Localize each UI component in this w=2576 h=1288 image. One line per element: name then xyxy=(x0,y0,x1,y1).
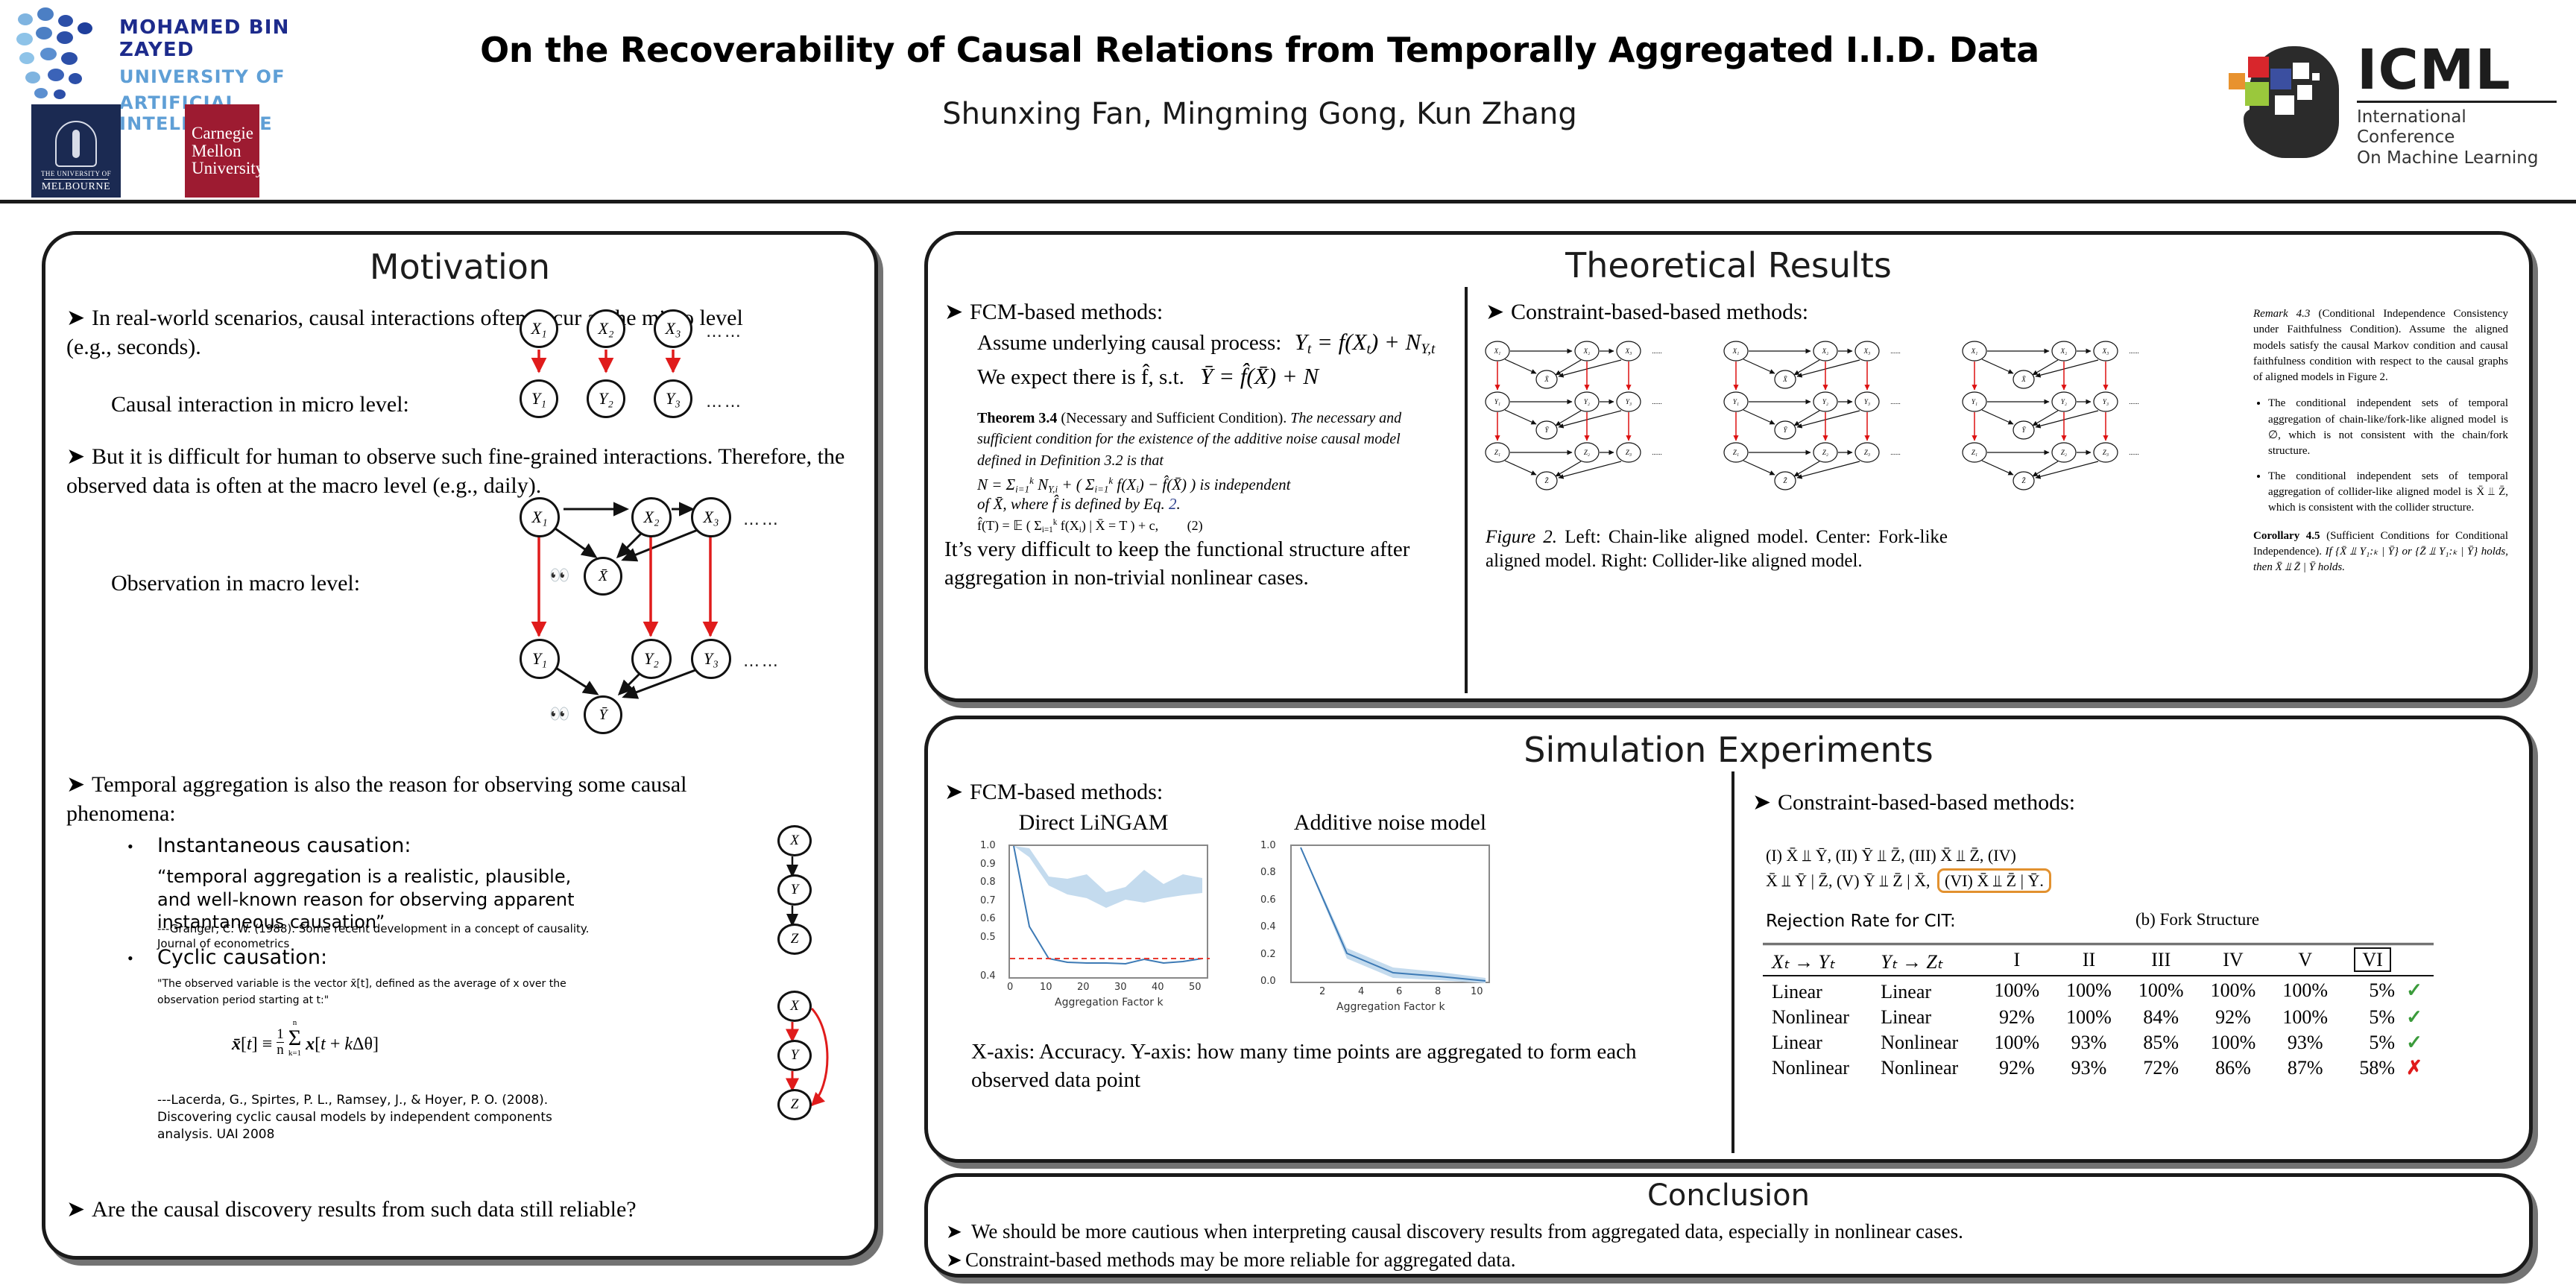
table-header-6: V xyxy=(2269,944,2341,976)
conclusion-bullet-2-text: Constraint-based methods may be more rel… xyxy=(965,1248,1515,1271)
row3-col1: Nonlinear xyxy=(1872,1055,1980,1081)
row0-col6: 100% xyxy=(2269,976,2341,1005)
sim-fcm-heading-text: FCM-based methods: xyxy=(970,780,1163,804)
node-x3-macro: X₃ xyxy=(691,497,731,537)
table-header-3: II xyxy=(2053,944,2125,976)
table-label: Rejection Rate for CIT: xyxy=(1766,912,1956,931)
svg-text:X₂: X₂ xyxy=(1583,347,1591,355)
motivation-caption-micro: Causal interaction in micro level: xyxy=(111,390,409,419)
row1-col5: 92% xyxy=(2197,1005,2270,1030)
motivation-bullet-4: ➤Are the causal discovery results from s… xyxy=(66,1195,842,1224)
expect-label: We expect there is f̂, s.t. xyxy=(977,365,1184,389)
row2-col1: Nonlinear xyxy=(1872,1030,1980,1055)
row3-col0: Nonlinear xyxy=(1763,1055,1872,1081)
theorem-head: (Necessary and Sufficient Condition). xyxy=(1061,410,1287,426)
cit-highlight-vi: (VI) X̄ ⫫ Z̄ | Ȳ. xyxy=(1937,868,2051,893)
assume-line: Assume underlying causal process: Yt = f… xyxy=(977,329,1435,358)
node-y-cyclic: Y xyxy=(777,1040,812,1071)
svg-text:X₁: X₁ xyxy=(1494,347,1501,355)
row3-col7: 58% xyxy=(2341,1055,2404,1081)
svg-text:Z₂: Z₂ xyxy=(1584,449,1590,456)
chart-left-xlabel: Aggregation Factor k xyxy=(1055,997,1164,1008)
table-header-mark xyxy=(2404,944,2434,976)
check-icon: ✓ xyxy=(2404,976,2434,1005)
row2-col7: 5% xyxy=(2341,1030,2404,1055)
motivation-title: Motivation xyxy=(45,247,874,287)
row1-col0: Nonlinear xyxy=(1763,1005,1872,1030)
node-y3: Y₃ xyxy=(654,379,692,418)
remark-paragraph: Remark 4.3 (Conditional Independence Con… xyxy=(2253,306,2508,385)
cross-icon: ✗ xyxy=(2404,1055,2434,1081)
aligned-models-svg: X₁ X₂ X₃ X̄ Y₁ Y₂ Y₃ xyxy=(1483,333,2228,520)
poster-authors: Shunxing Fan, Mingming Gong, Kun Zhang xyxy=(373,97,2147,131)
table-header-0: Xₜ → Yₜ xyxy=(1763,944,1872,976)
node-x-cyclic: X xyxy=(777,991,812,1022)
motivation-bullet-3: ➤Temporal aggregation is also the reason… xyxy=(66,770,797,828)
row2-col3: 93% xyxy=(2053,1030,2125,1055)
icml-head-icon xyxy=(2229,40,2352,163)
axis-note: X-axis: Accuracy. Y-axis: how many time … xyxy=(971,1038,1702,1094)
chart-left-title: Direct LiNGAM xyxy=(974,810,1213,836)
check-icon: ✓ xyxy=(2404,1005,2434,1030)
table-header-1: Yₜ → Zₜ xyxy=(1872,944,1980,976)
cit-line-2-text: X̄ ⫫ Ȳ | Z̄, (V) Ȳ ⫫ Z̄ | X̄, xyxy=(1766,871,1931,890)
node-x3: X₃ xyxy=(654,309,692,348)
table-row: Nonlinear Nonlinear 92% 93% 72% 86% 87% … xyxy=(1763,1055,2434,1081)
chart-right-plotbox xyxy=(1290,845,1490,983)
check-icon: ✓ xyxy=(2404,1030,2434,1055)
mbzuai-line-1: MOHAMED BIN ZAYED xyxy=(119,16,358,61)
arrow-bullet-icon: ➤ xyxy=(1486,297,1511,326)
equation-2: f̂(T) = 𝔼 ( Σi=1k f(Xi) | X̄ = T ) + c, … xyxy=(977,518,1424,534)
remark-bullet-1: The conditional independent sets of temp… xyxy=(2268,396,2508,459)
theory-cb-heading: ➤Constraint-based-based methods: xyxy=(1486,297,1808,326)
dot-bullet-icon: • xyxy=(127,949,133,968)
arrow-bullet-icon: ➤ xyxy=(66,442,92,471)
mbzuai-dots-icon xyxy=(15,6,112,103)
header-divider xyxy=(0,200,2576,203)
poster-header: MOHAMED BIN ZAYED UNIVERSITY OF ARTIFICI… xyxy=(0,0,2576,203)
row3-col2: 92% xyxy=(1980,1055,2053,1081)
row2-col4: 85% xyxy=(2125,1030,2197,1055)
node-y-chain: Y xyxy=(777,874,812,906)
row2-col2: 100% xyxy=(1980,1030,2053,1055)
conclusion-bullet-1: ➤We should be more cautious when interpr… xyxy=(946,1220,1963,1243)
table-subcaption: (b) Fork Structure xyxy=(2135,910,2259,929)
cyclic-causation-label: Cyclic causation: xyxy=(157,946,327,969)
expect-equation: Ȳ = f̂(X̄) + N xyxy=(1200,363,1319,389)
row3-col3: 93% xyxy=(2053,1055,2125,1081)
svg-text:......: ...... xyxy=(1652,398,1662,405)
corollary-label: Corollary 4.5 xyxy=(2253,530,2320,542)
remark-label: Remark 4.3 xyxy=(2253,308,2310,320)
dot-bullet-icon: • xyxy=(127,837,133,856)
theorem-equation: N = Σi=1k NY,i + ( Σi=1k f(Xi) − f̂(X̄) … xyxy=(977,475,1424,495)
row0-col3: 100% xyxy=(2053,976,2125,1005)
chart-additive-noise: Additive noise model 1.0 0.8 0.6 0.4 0.2… xyxy=(1241,810,1539,836)
table-row: Linear Linear 100% 100% 100% 100% 100% 5… xyxy=(1763,976,2434,1005)
arrow-bullet-icon: ➤ xyxy=(946,1249,965,1272)
cmu-line-3: University xyxy=(192,160,259,177)
motivation-caption-macro: Observation in macro level: xyxy=(111,569,360,598)
mbzuai-line-2: UNIVERSITY OF xyxy=(119,66,358,87)
figure2-caption: Figure 2. Left: Chain-like aligned model… xyxy=(1486,525,1948,573)
node-x2-macro: X₂ xyxy=(631,497,672,537)
cit-line-1: (I) X̄ ⫫ Ȳ, (II) Ȳ ⫫ Z̄, (III) X̄ ⫫ Z̄… xyxy=(1766,843,2051,868)
arrow-bullet-icon: ➤ xyxy=(66,770,92,799)
macro-top-ellipsis: …… xyxy=(743,511,780,529)
chart-left-svg xyxy=(1010,846,1210,980)
row0-col2: 100% xyxy=(1980,976,2053,1005)
melbourne-line-1: THE UNIVERSITY OF xyxy=(41,170,111,177)
row1-col2: 92% xyxy=(1980,1005,2053,1030)
sim-fcm-heading: ➤FCM-based methods: xyxy=(944,777,1163,806)
sim-cb-heading: ➤Constraint-based-based methods: xyxy=(1752,788,2075,817)
theory-divider xyxy=(1465,287,1468,693)
icml-logo: ICML International Conference On Machine… xyxy=(2184,33,2564,167)
node-x-chain: X xyxy=(777,825,812,856)
row0-col7: 5% xyxy=(2341,976,2404,1005)
assume-label: Assume underlying causal process: xyxy=(977,331,1281,355)
arrow-bullet-icon: ➤ xyxy=(1752,788,1778,817)
node-y2: Y₂ xyxy=(587,379,625,418)
table-header-row: Xₜ → Yₜ Yₜ → Zₜ I II III IV V VI xyxy=(1763,944,2434,976)
cit-definitions: (I) X̄ ⫫ Ȳ, (II) Ȳ ⫫ Z̄, (III) X̄ ⫫ Z̄… xyxy=(1766,843,2051,894)
melbourne-crest-icon xyxy=(55,121,97,167)
svg-text:......: ...... xyxy=(1652,449,1662,456)
row3-col5: 86% xyxy=(2197,1055,2270,1081)
theory-fcm-heading: ➤FCM-based methods: xyxy=(944,297,1163,326)
expect-line: We expect there is f̂, s.t. Ȳ = f̂(X̄) … xyxy=(977,363,1319,390)
node-z-chain: Z xyxy=(777,924,812,955)
cyclic-formula: x̄[t] ≡ 1n n Σ k=1 x[t + kΔθ] xyxy=(232,1019,379,1058)
row1-col6: 100% xyxy=(2269,1005,2341,1030)
icml-subtitle-2: On Machine Learning xyxy=(2357,148,2564,169)
row1-col3: 100% xyxy=(2053,1005,2125,1030)
row0-col0: Linear xyxy=(1763,976,1872,1005)
panel-theoretical-results: Theoretical Results ➤FCM-based methods: … xyxy=(924,231,2533,702)
svg-text:Y₁: Y₁ xyxy=(1494,398,1500,405)
instantaneous-causation-label: Instantaneous causation: xyxy=(157,834,411,857)
table-row: Linear Nonlinear 100% 93% 85% 100% 93% 5… xyxy=(1763,1030,2434,1055)
figure2-graphs: X₁ X₂ X₃ X̄ Y₁ Y₂ Y₃ xyxy=(1483,333,2228,520)
row2-col5: 100% xyxy=(2197,1030,2270,1055)
conclusion-bullet-2: ➤Constraint-based methods may be more re… xyxy=(946,1248,1515,1272)
table-header-2: I xyxy=(1980,944,2053,976)
macro-bottom-ellipsis: …… xyxy=(743,652,780,671)
svg-text:Y₃: Y₃ xyxy=(1626,398,1632,405)
row1-col4: 84% xyxy=(2125,1005,2197,1030)
theorem-block: Theorem 3.4 (Necessary and Sufficient Co… xyxy=(977,408,1424,534)
panel-conclusion: Conclusion ➤We should be more cautious w… xyxy=(924,1173,2533,1278)
svg-text:X₃: X₃ xyxy=(1625,347,1632,355)
arrow-bullet-icon: ➤ xyxy=(946,1221,971,1243)
row3-col4: 72% xyxy=(2125,1055,2197,1081)
simulation-divider xyxy=(1731,771,1734,1153)
cmu-line-2: Mellon xyxy=(192,142,259,160)
fcm-conclusion: It’s very difficult to keep the function… xyxy=(944,536,1444,592)
conclusion-title: Conclusion xyxy=(928,1178,2529,1213)
remark-bullet-2: The conditional independent sets of temp… xyxy=(2268,469,2508,517)
motivation-bullet-4-text: Are the causal discovery results from su… xyxy=(92,1197,637,1222)
conclusion-bullet-1-text: We should be more cautious when interpre… xyxy=(971,1220,1963,1243)
micro-bottom-ellipsis: …… xyxy=(706,393,743,411)
icml-wordmark: ICML xyxy=(2357,43,2564,98)
melbourne-divider xyxy=(44,179,108,180)
theorem-label: Theorem 3.4 xyxy=(977,410,1057,426)
mbzuai-logo: MOHAMED BIN ZAYED UNIVERSITY OF ARTIFICI… xyxy=(15,6,358,103)
simulation-title: Simulation Experiments xyxy=(928,730,2529,770)
panel-simulation-experiments: Simulation Experiments ➤FCM-based method… xyxy=(924,716,2533,1163)
node-x1-macro: X₁ xyxy=(520,497,560,537)
theorem-equation-2: of X̄, where f̂ is defined by Eq. 2. xyxy=(977,495,1424,514)
svg-text:Z₃: Z₃ xyxy=(1626,449,1632,456)
table-header-5: IV xyxy=(2197,944,2270,976)
row1-col1: Linear xyxy=(1872,1005,1980,1030)
icml-subtitle-1: International Conference xyxy=(2357,107,2564,148)
svg-text:Y₂: Y₂ xyxy=(1584,398,1590,405)
chart-right-svg xyxy=(1292,846,1491,985)
arrow-bullet-icon: ➤ xyxy=(944,777,970,806)
results-table: Xₜ → Yₜ Yₜ → Zₜ I II III IV V VI Linear … xyxy=(1763,943,2434,1081)
node-y1-macro: Y₁ xyxy=(520,639,560,679)
arrow-bullet-icon: ➤ xyxy=(944,297,970,326)
row1-col7: 5% xyxy=(2341,1005,2404,1030)
melbourne-logo: THE UNIVERSITY OF MELBOURNE xyxy=(31,104,121,198)
assume-equation: Yt = f(Xt) + NY,t xyxy=(1295,329,1436,355)
eyes-icon: 👀 xyxy=(549,566,569,585)
table-header-7: VI xyxy=(2341,944,2404,976)
node-x2: X₂ xyxy=(587,309,625,348)
poster-title: On the Recoverability of Causal Relation… xyxy=(373,30,2147,70)
row3-col6: 87% xyxy=(2269,1055,2341,1081)
cit-line-2: X̄ ⫫ Ȳ | Z̄, (V) Ȳ ⫫ Z̄ | X̄, (VI) X̄ … xyxy=(1766,868,2051,894)
theory-cb-heading-text: Constraint-based-based methods: xyxy=(1511,300,1808,324)
corollary-paragraph: Corollary 4.5 (Sufficient Conditions for… xyxy=(2253,528,2508,576)
sim-cb-heading-text: Constraint-based-based methods: xyxy=(1778,790,2075,815)
row0-col4: 100% xyxy=(2125,976,2197,1005)
svg-text:X̄: X̄ xyxy=(1544,376,1549,383)
node-x1: X₁ xyxy=(520,309,558,348)
svg-text:Z₁: Z₁ xyxy=(1494,449,1500,456)
chart-right-title: Additive noise model xyxy=(1241,810,1539,836)
chart-right-xlabel: Aggregation Factor k xyxy=(1336,1001,1445,1013)
theory-fcm-heading-text: FCM-based methods: xyxy=(970,300,1163,324)
node-y1: Y₁ xyxy=(520,379,558,418)
chart-left-plotbox xyxy=(1008,845,1208,979)
chart-direct-lingam: Direct LiNGAM 1.0 0.9 0.8 0.7 0.6 0.5 0.… xyxy=(974,810,1213,836)
row0-col1: Linear xyxy=(1872,976,1980,1005)
eyes-icon: 👀 xyxy=(549,704,569,724)
node-x-bar: X̄ xyxy=(584,557,622,596)
equation-2-number: (2) xyxy=(1187,518,1203,533)
lacerda-quote: "The observed variable is the vector x̄[… xyxy=(157,976,575,1009)
motivation-bullet-3-text: Temporal aggregation is also the reason … xyxy=(66,772,687,826)
arrow-bullet-icon: ➤ xyxy=(66,1195,92,1224)
table-row: Nonlinear Linear 92% 100% 84% 92% 100% 5… xyxy=(1763,1005,2434,1030)
cmu-line-1: Carnegie xyxy=(192,124,259,142)
lacerda-citation: ---Lacerda, G., Spirtes, P. L., Ramsey, … xyxy=(157,1092,597,1143)
node-y3-macro: Y₃ xyxy=(691,639,731,679)
cmu-logo: Carnegie Mellon University xyxy=(185,104,259,198)
theory-title: Theoretical Results xyxy=(928,245,2529,285)
row2-col6: 93% xyxy=(2269,1030,2341,1055)
svg-text:......: ...... xyxy=(1652,347,1662,355)
melbourne-line-2: MELBOURNE xyxy=(42,181,111,193)
node-z-cyclic: Z xyxy=(777,1089,812,1120)
node-y2-macro: Y₂ xyxy=(631,639,672,679)
table-header-4: III xyxy=(2125,944,2197,976)
node-y-bar: Ȳ xyxy=(584,695,622,734)
figure2-caption-label: Figure 2. xyxy=(1486,527,1557,547)
row2-col0: Linear xyxy=(1763,1030,1872,1055)
row0-col5: 100% xyxy=(2197,976,2270,1005)
remark-block: Remark 4.3 (Conditional Independence Con… xyxy=(2253,306,2508,575)
panel-motivation: Motivation ➤In real-world scenarios, cau… xyxy=(42,231,878,1260)
arrow-bullet-icon: ➤ xyxy=(66,303,92,332)
